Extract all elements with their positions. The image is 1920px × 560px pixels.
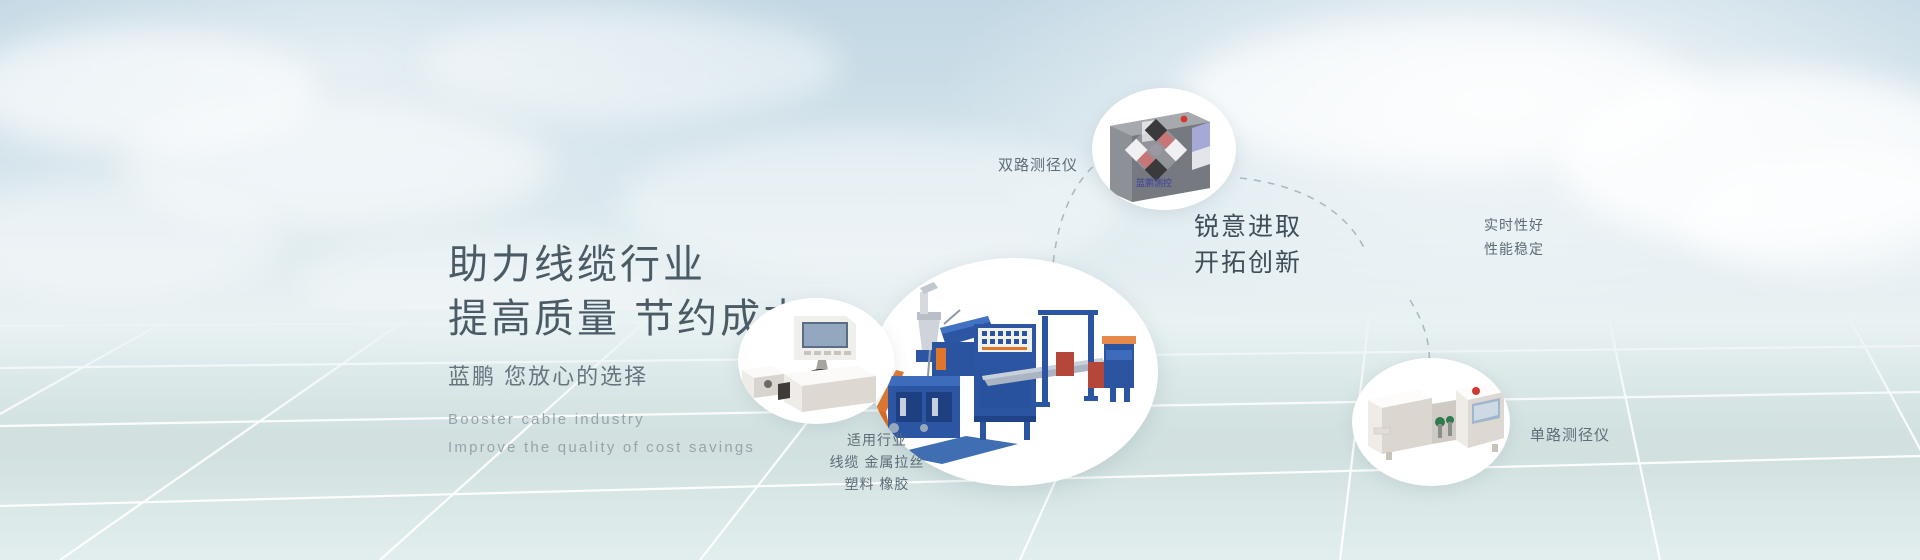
feature-line-1: 实时性好: [1484, 215, 1544, 237]
single-gauge-illustration: [1352, 358, 1510, 486]
slogan-line-1: 锐意进取: [1194, 210, 1302, 246]
feature-line-2: 性能稳定: [1484, 239, 1544, 261]
bubble-single-gauge: [1352, 358, 1510, 486]
dual-gauge-illustration: 蓝鹏测控: [1092, 88, 1236, 210]
bubble-control-unit: [738, 298, 894, 424]
label-dual-gauge: 双路测径仪: [998, 154, 1078, 177]
device-brand-text: 蓝鹏测控: [1136, 177, 1172, 188]
slogan-line-2: 开拓创新: [1194, 246, 1302, 282]
label-single-gauge: 单路测径仪: [1530, 424, 1610, 447]
hero-banner: 助力线缆行业 提高质量 节约成本 蓝鹏 您放心的选择 Booster cable…: [0, 0, 1920, 560]
product-collage: 蓝鹏测控: [880, 0, 1920, 560]
cloud-decoration: [420, 10, 840, 120]
headline-english-line-2: Improve the quality of cost savings: [448, 434, 806, 462]
headline-english-line-1: Booster cable industry: [448, 406, 806, 434]
control-unit-illustration: [738, 298, 894, 424]
headline-line-1: 助力线缆行业: [448, 238, 806, 292]
industry-title: 适用行业: [817, 430, 937, 452]
industry-line-2: 塑料 橡胶: [817, 474, 937, 496]
bubble-dual-gauge: 蓝鹏测控: [1092, 88, 1236, 210]
industry-line-1: 线缆 金属拉丝: [797, 452, 957, 474]
